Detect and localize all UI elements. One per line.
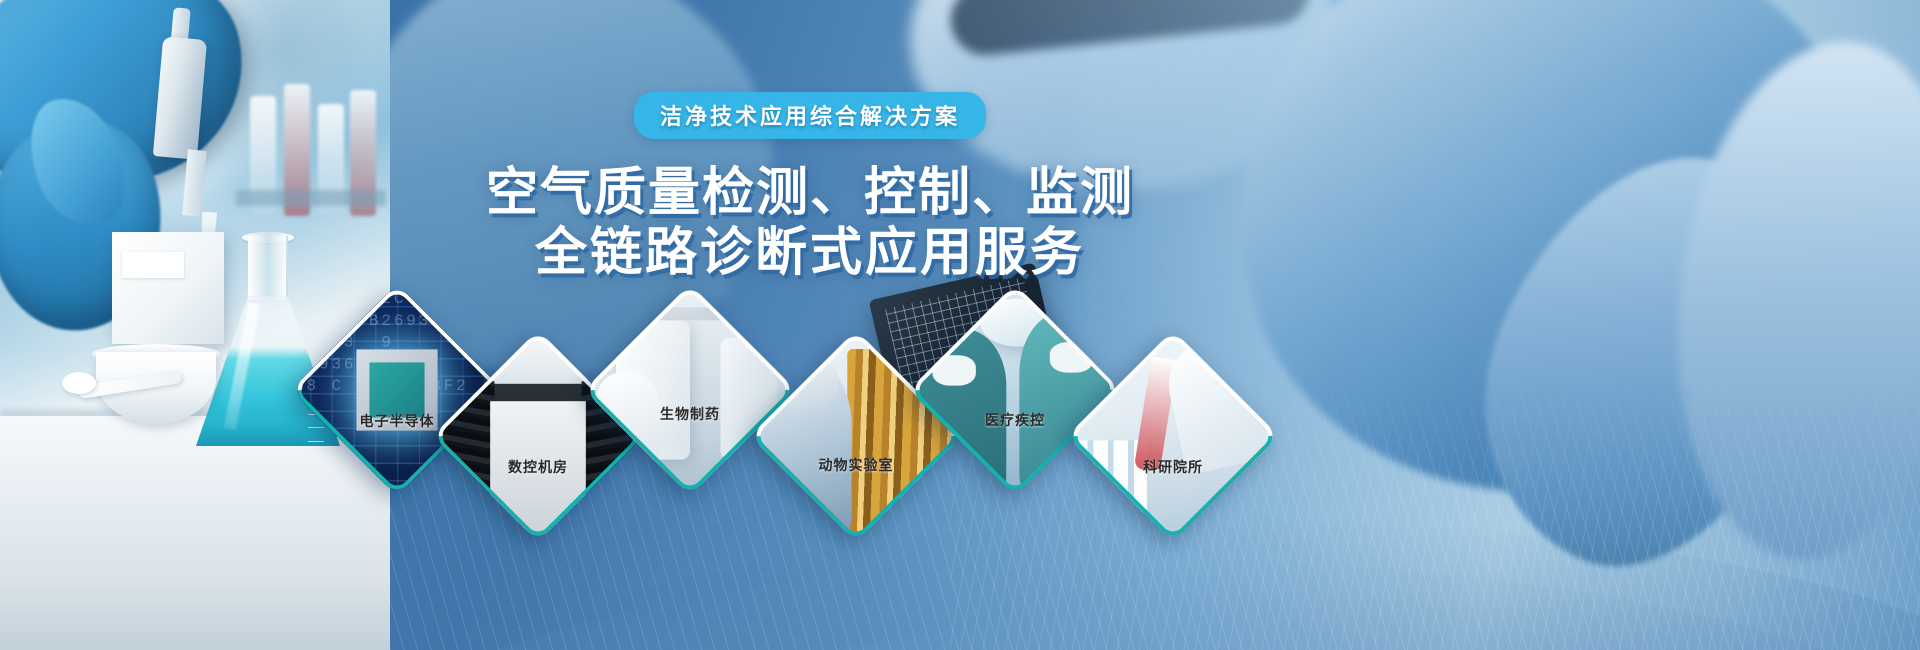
medical-cdc-icon [909, 284, 1121, 496]
industry-card-label: 数控机房 [463, 457, 613, 477]
hero-banner: 洁净技术应用综合解决方案 空气质量检测、控制、监测 全链路诊断式应用服务 592… [0, 0, 1920, 650]
industry-card-label: 科研院所 [1098, 457, 1248, 477]
industry-card-medical[interactable] [909, 284, 1121, 496]
industry-card-research[interactable] [1067, 330, 1279, 542]
industry-card-label: 医疗疾控 [940, 410, 1090, 430]
industry-card-row: 5926 E2C7 8 B2693E BF3 97 936 AB8 C A 0A… [0, 0, 1920, 650]
industry-card-label: 动物实验室 [781, 455, 931, 475]
animal-lab-icon [750, 330, 962, 542]
industry-card-label: 生物制药 [615, 404, 765, 424]
industry-card-animal-lab[interactable] [750, 330, 962, 542]
research-institute-icon [1067, 330, 1279, 542]
